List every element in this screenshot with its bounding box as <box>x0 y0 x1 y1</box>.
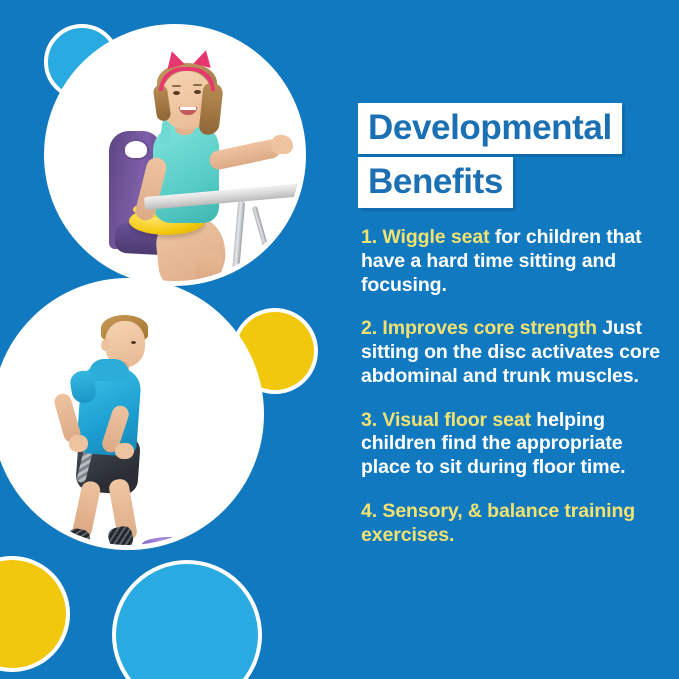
benefit-number: 3. <box>361 409 377 431</box>
desk-leg-front <box>232 201 245 275</box>
benefit-number: 4. <box>361 500 377 522</box>
girl-sitting-on-wiggle-seat-at-desk <box>44 24 306 286</box>
page-title-line-2-wrap: Benefits <box>358 157 513 208</box>
benefit-number: 2. <box>361 317 377 339</box>
boy-photo-inner <box>0 283 259 545</box>
benefit-highlight: Improves core strength <box>382 317 597 339</box>
yellow-circle-bottom-left <box>0 556 70 672</box>
girl-photo-inner <box>49 29 301 281</box>
girl-teeth <box>180 107 196 110</box>
content-panel: Developmental Benefits 1. Wiggle seat fo… <box>358 0 668 679</box>
page-title-line-1-wrap: Developmental <box>358 103 622 154</box>
chair-handle-hole <box>125 141 147 158</box>
girl-eye-left <box>173 91 180 95</box>
list-item: 4. Sensory, & balance training exercises… <box>361 500 661 548</box>
list-item: 3. Visual floor seat helping children fi… <box>361 409 661 480</box>
product-infographic: Developmental Benefits 1. Wiggle seat fo… <box>0 0 679 679</box>
boy-hand-left <box>69 435 88 452</box>
list-item: 2. Improves core strength Just sitting o… <box>361 317 661 388</box>
black-balance-disc-top <box>28 535 84 550</box>
benefit-highlight: Sensory, & balance training exercises. <box>361 500 635 546</box>
boy-ear <box>101 339 110 351</box>
boy-hand-right <box>115 443 134 459</box>
list-item: 1. Wiggle seat for children that have a … <box>361 226 661 297</box>
cyan-circle-bottom <box>112 560 262 679</box>
purple-balance-disc-top <box>142 537 198 550</box>
benefit-highlight: Visual floor seat <box>382 409 531 431</box>
boy-eye <box>131 341 136 344</box>
benefit-highlight: Wiggle seat <box>382 226 489 248</box>
page-title-line-2: Benefits <box>358 157 513 208</box>
boy-stepping-on-balance-discs <box>0 278 264 550</box>
boy-hood <box>89 359 129 381</box>
desk-leg-rear <box>252 206 276 273</box>
page-title-line-1: Developmental <box>358 103 622 154</box>
benefits-list: 1. Wiggle seat for children that have a … <box>361 226 661 548</box>
girl-hand <box>271 135 293 154</box>
benefit-number: 1. <box>361 226 377 248</box>
